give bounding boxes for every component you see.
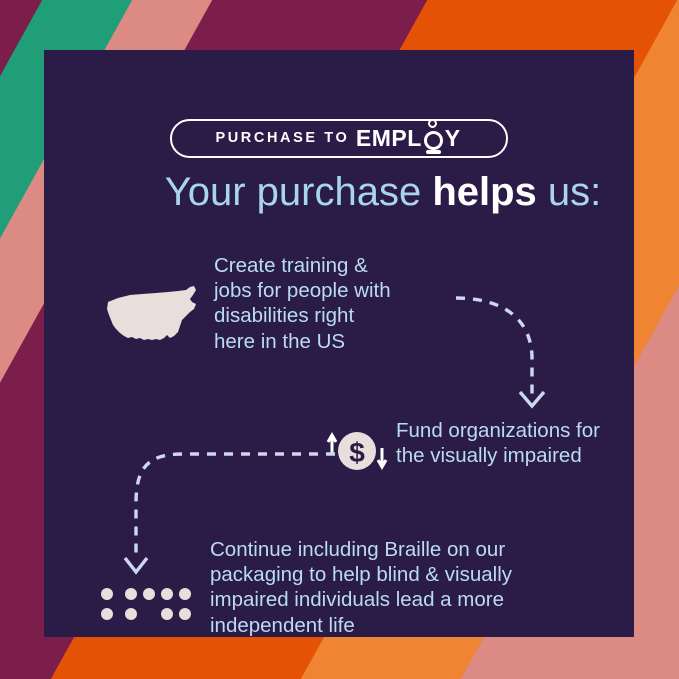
title-part-3: us: [537, 170, 601, 214]
braille-dot [161, 588, 173, 600]
item-1-text: Create training & jobs for people with d… [214, 253, 459, 354]
braille-dot [179, 588, 191, 600]
braille-dot [143, 588, 155, 600]
title-part-2-emphasis: helps [432, 170, 536, 214]
item-3-text: Continue including Braille on our packag… [210, 537, 610, 638]
person-base-icon [426, 150, 441, 154]
braille-dot [125, 588, 137, 600]
braille-dot [125, 608, 137, 620]
title-part-1: Your purchase [165, 170, 433, 214]
braille-dot [101, 608, 113, 620]
purchase-to-employ-badge: PURCHASE TO EMPLY [170, 119, 508, 158]
person-head-icon [428, 119, 437, 128]
content-panel: PURCHASE TO EMPLY Your purchase helps us… [44, 50, 634, 637]
braille-dots-icon [101, 588, 197, 624]
braille-dot [161, 608, 173, 620]
item-2-text: Fund organizations for the visually impa… [396, 418, 666, 468]
person-icon [423, 126, 444, 152]
badge-employ-part2: Y [445, 127, 463, 150]
us-map-icon [104, 282, 204, 348]
page-title: Your purchase helps us: [88, 172, 678, 212]
dashed-arrow-down-right-icon [454, 284, 564, 414]
badge-prefix-label: PURCHASE TO [215, 131, 349, 146]
person-body-icon [424, 131, 443, 150]
braille-dot [179, 608, 191, 620]
svg-text:$: $ [349, 437, 365, 468]
infographic-root: PURCHASE TO EMPLY Your purchase helps us… [0, 0, 679, 679]
badge-text: PURCHASE TO EMPLY [215, 126, 462, 152]
braille-dot [101, 588, 113, 600]
badge-employ-part1: EMPL [356, 127, 422, 150]
